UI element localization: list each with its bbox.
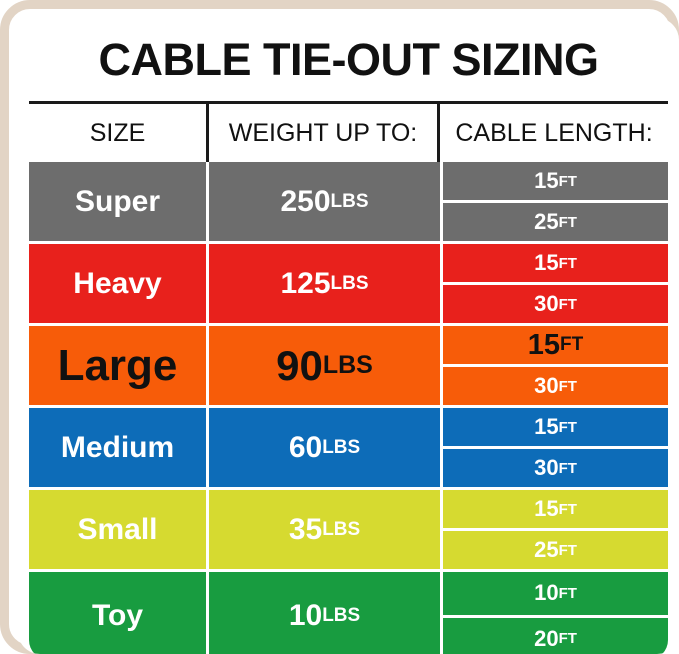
page-title: CABLE TIE-OUT SIZING — [99, 34, 599, 86]
cable-length-value: 15 — [534, 496, 558, 522]
cable-length-value: 20 — [534, 626, 558, 652]
cable-length-unit: FT — [559, 296, 577, 313]
cable-length-option: 30FT — [443, 367, 668, 405]
cable-length-option: 15FT — [443, 244, 668, 285]
cell-cable-length: 10FT20FT — [443, 572, 668, 654]
weight-value: 125 — [280, 267, 330, 301]
cable-length-option: 15FT — [443, 326, 668, 367]
table-row: Large90LBS15FT30FT — [29, 326, 668, 405]
cable-length-unit: FT — [559, 419, 577, 436]
cable-length-option: 20FT — [443, 618, 668, 654]
size-label: Heavy — [73, 267, 161, 301]
size-label: Large — [58, 341, 178, 391]
cable-length-unit: FT — [559, 255, 577, 272]
cell-weight: 90LBS — [209, 326, 440, 405]
cell-weight: 60LBS — [209, 408, 440, 487]
cable-length-option: 15FT — [443, 408, 668, 449]
cell-size: Toy — [29, 572, 206, 654]
cable-length-unit: FT — [560, 334, 583, 356]
cable-length-value: 30 — [534, 291, 558, 317]
cell-weight: 250LBS — [209, 162, 440, 241]
weight-unit: LBS — [322, 605, 360, 627]
table-row: Medium60LBS15FT30FT — [29, 408, 668, 487]
size-label: Super — [75, 185, 160, 219]
cell-cable-length: 15FT30FT — [443, 244, 668, 323]
cable-length-option: 10FT — [443, 572, 668, 618]
cable-length-value: 30 — [534, 455, 558, 481]
cable-length-value: 15 — [528, 329, 560, 362]
table-body: Super250LBS15FT25FTHeavy125LBS15FT30FTLa… — [29, 162, 668, 654]
cell-cable-length: 15FT30FT — [443, 408, 668, 487]
cell-size: Super — [29, 162, 206, 241]
cable-length-unit: FT — [559, 173, 577, 190]
cable-length-unit: FT — [559, 542, 577, 559]
weight-value: 10 — [289, 599, 322, 633]
cable-length-value: 30 — [534, 373, 558, 399]
cable-length-option: 15FT — [443, 490, 668, 531]
size-label: Toy — [92, 599, 143, 633]
weight-value: 90 — [276, 342, 323, 390]
weight-value: 60 — [289, 431, 322, 465]
cable-length-unit: FT — [559, 585, 577, 602]
cable-length-unit: FT — [559, 378, 577, 395]
cell-cable-length: 15FT25FT — [443, 490, 668, 569]
cell-size: Heavy — [29, 244, 206, 323]
cell-size: Medium — [29, 408, 206, 487]
weight-unit: LBS — [331, 273, 369, 295]
column-header-weight: WEIGHT UP TO: — [206, 104, 437, 162]
cable-length-unit: FT — [559, 501, 577, 518]
cable-length-value: 15 — [534, 250, 558, 276]
table-header-row: SIZE WEIGHT UP TO: CABLE LENGTH: — [29, 101, 668, 162]
cable-length-option: 25FT — [443, 203, 668, 241]
cable-length-unit: FT — [559, 214, 577, 231]
weight-value: 35 — [289, 513, 322, 547]
cable-length-unit: FT — [559, 460, 577, 477]
cable-length-unit: FT — [559, 630, 577, 647]
cell-cable-length: 15FT30FT — [443, 326, 668, 405]
weight-unit: LBS — [331, 191, 369, 213]
cell-weight: 125LBS — [209, 244, 440, 323]
cable-length-option: 25FT — [443, 531, 668, 569]
chart-inner: CABLE TIE-OUT SIZING SIZE WEIGHT UP TO: … — [18, 18, 679, 654]
cell-size: Large — [29, 326, 206, 405]
size-label: Small — [77, 513, 157, 547]
weight-unit: LBS — [323, 351, 373, 380]
weight-value: 250 — [280, 185, 330, 219]
cell-weight: 35LBS — [209, 490, 440, 569]
table-row: Heavy125LBS15FT30FT — [29, 244, 668, 323]
table-row: Small35LBS15FT25FT — [29, 490, 668, 569]
cell-weight: 10LBS — [209, 572, 440, 654]
title-bar: CABLE TIE-OUT SIZING — [18, 18, 679, 101]
cable-length-value: 25 — [534, 209, 558, 235]
column-header-length: CABLE LENGTH: — [437, 104, 668, 162]
weight-unit: LBS — [322, 519, 360, 541]
cell-cable-length: 15FT25FT — [443, 162, 668, 241]
cell-size: Small — [29, 490, 206, 569]
cable-length-option: 15FT — [443, 162, 668, 203]
size-label: Medium — [61, 431, 174, 465]
chart-frame: CABLE TIE-OUT SIZING SIZE WEIGHT UP TO: … — [0, 0, 679, 654]
weight-unit: LBS — [322, 437, 360, 459]
column-header-size: SIZE — [29, 104, 206, 162]
cable-length-value: 15 — [534, 414, 558, 440]
cable-length-value: 10 — [534, 580, 558, 606]
cable-length-option: 30FT — [443, 449, 668, 487]
table-row: Super250LBS15FT25FT — [29, 162, 668, 241]
cable-length-value: 15 — [534, 168, 558, 194]
cable-length-option: 30FT — [443, 285, 668, 323]
table-row: Toy10LBS10FT20FT — [29, 572, 668, 654]
cable-length-value: 25 — [534, 537, 558, 563]
